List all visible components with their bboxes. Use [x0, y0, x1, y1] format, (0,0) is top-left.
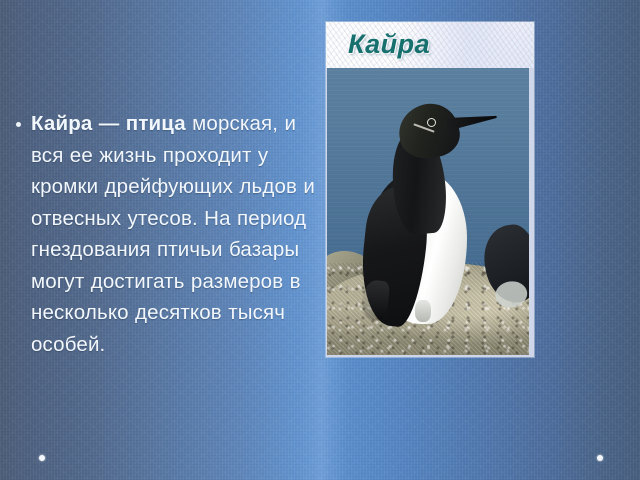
accent-dot-left	[39, 455, 45, 461]
bullet-rest-text: морская, и вся ее жизнь проходит у кромк…	[31, 112, 315, 356]
picture-title: Кайра	[348, 29, 430, 60]
bullet-dash: —	[92, 112, 125, 135]
slide-canvas: Кайра — птица морская, и вся ее жизнь пр…	[0, 0, 640, 480]
picture-card: Кайра	[326, 22, 534, 357]
accent-dot-right	[597, 455, 603, 461]
photo-primary-bird	[361, 94, 487, 332]
guillemot-murre-photo	[327, 68, 529, 355]
body-text-block: Кайра — птица морская, и вся ее жизнь пр…	[8, 108, 316, 360]
bird-eye-ring	[427, 118, 436, 127]
bullet-lead-word-2: птица	[126, 112, 186, 135]
bullet-text: Кайра — птица морская, и вся ее жизнь пр…	[31, 108, 316, 360]
bullet-point-icon	[16, 122, 21, 127]
list-item: Кайра — птица морская, и вся ее жизнь пр…	[8, 108, 316, 360]
bullet-lead-word-1: Кайра	[31, 112, 92, 135]
bird-foot	[427, 310, 484, 330]
